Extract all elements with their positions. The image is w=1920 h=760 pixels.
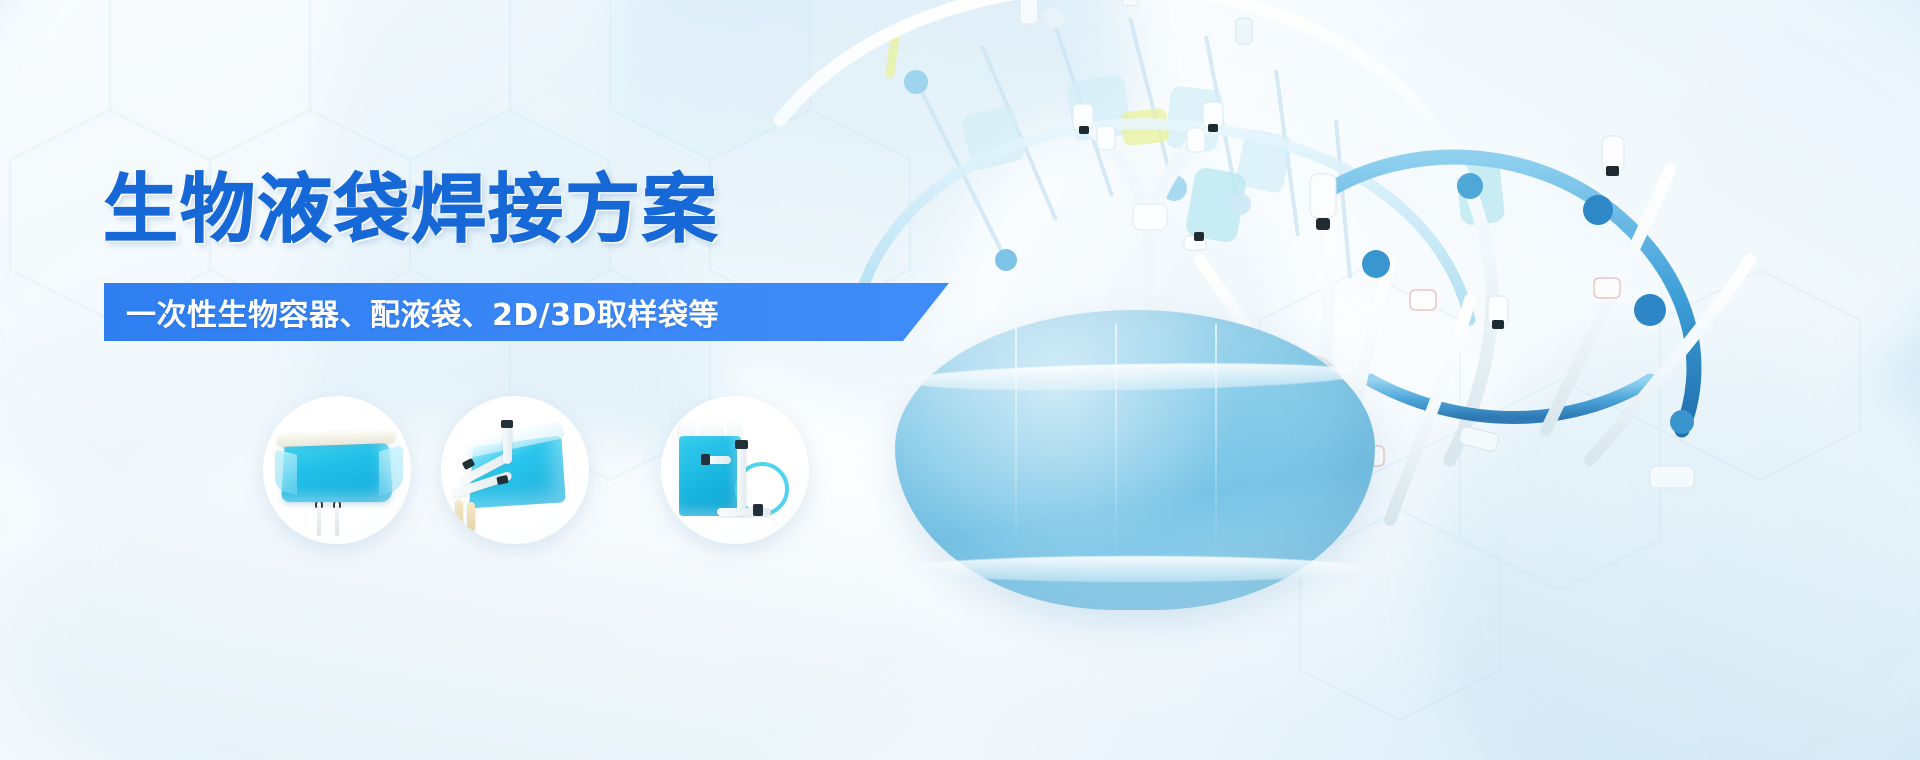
subtitle-text: 一次性生物容器、配液袋、2D/3D取样袋等 — [126, 283, 719, 341]
hero-banner: 生物液袋焊接方案 一次性生物容器、配液袋、2D/3D取样袋等 — [0, 0, 1920, 760]
page-title: 生物液袋焊接方案 — [103, 172, 719, 247]
bioreactor-bag-icon — [895, 280, 1375, 610]
thumbnail-3d-sampling-bag[interactable] — [441, 396, 589, 544]
thumbnail-sampling-bag-with-tubing[interactable] — [661, 396, 809, 544]
thumbnail-2d-liquid-bag[interactable] — [263, 396, 411, 544]
